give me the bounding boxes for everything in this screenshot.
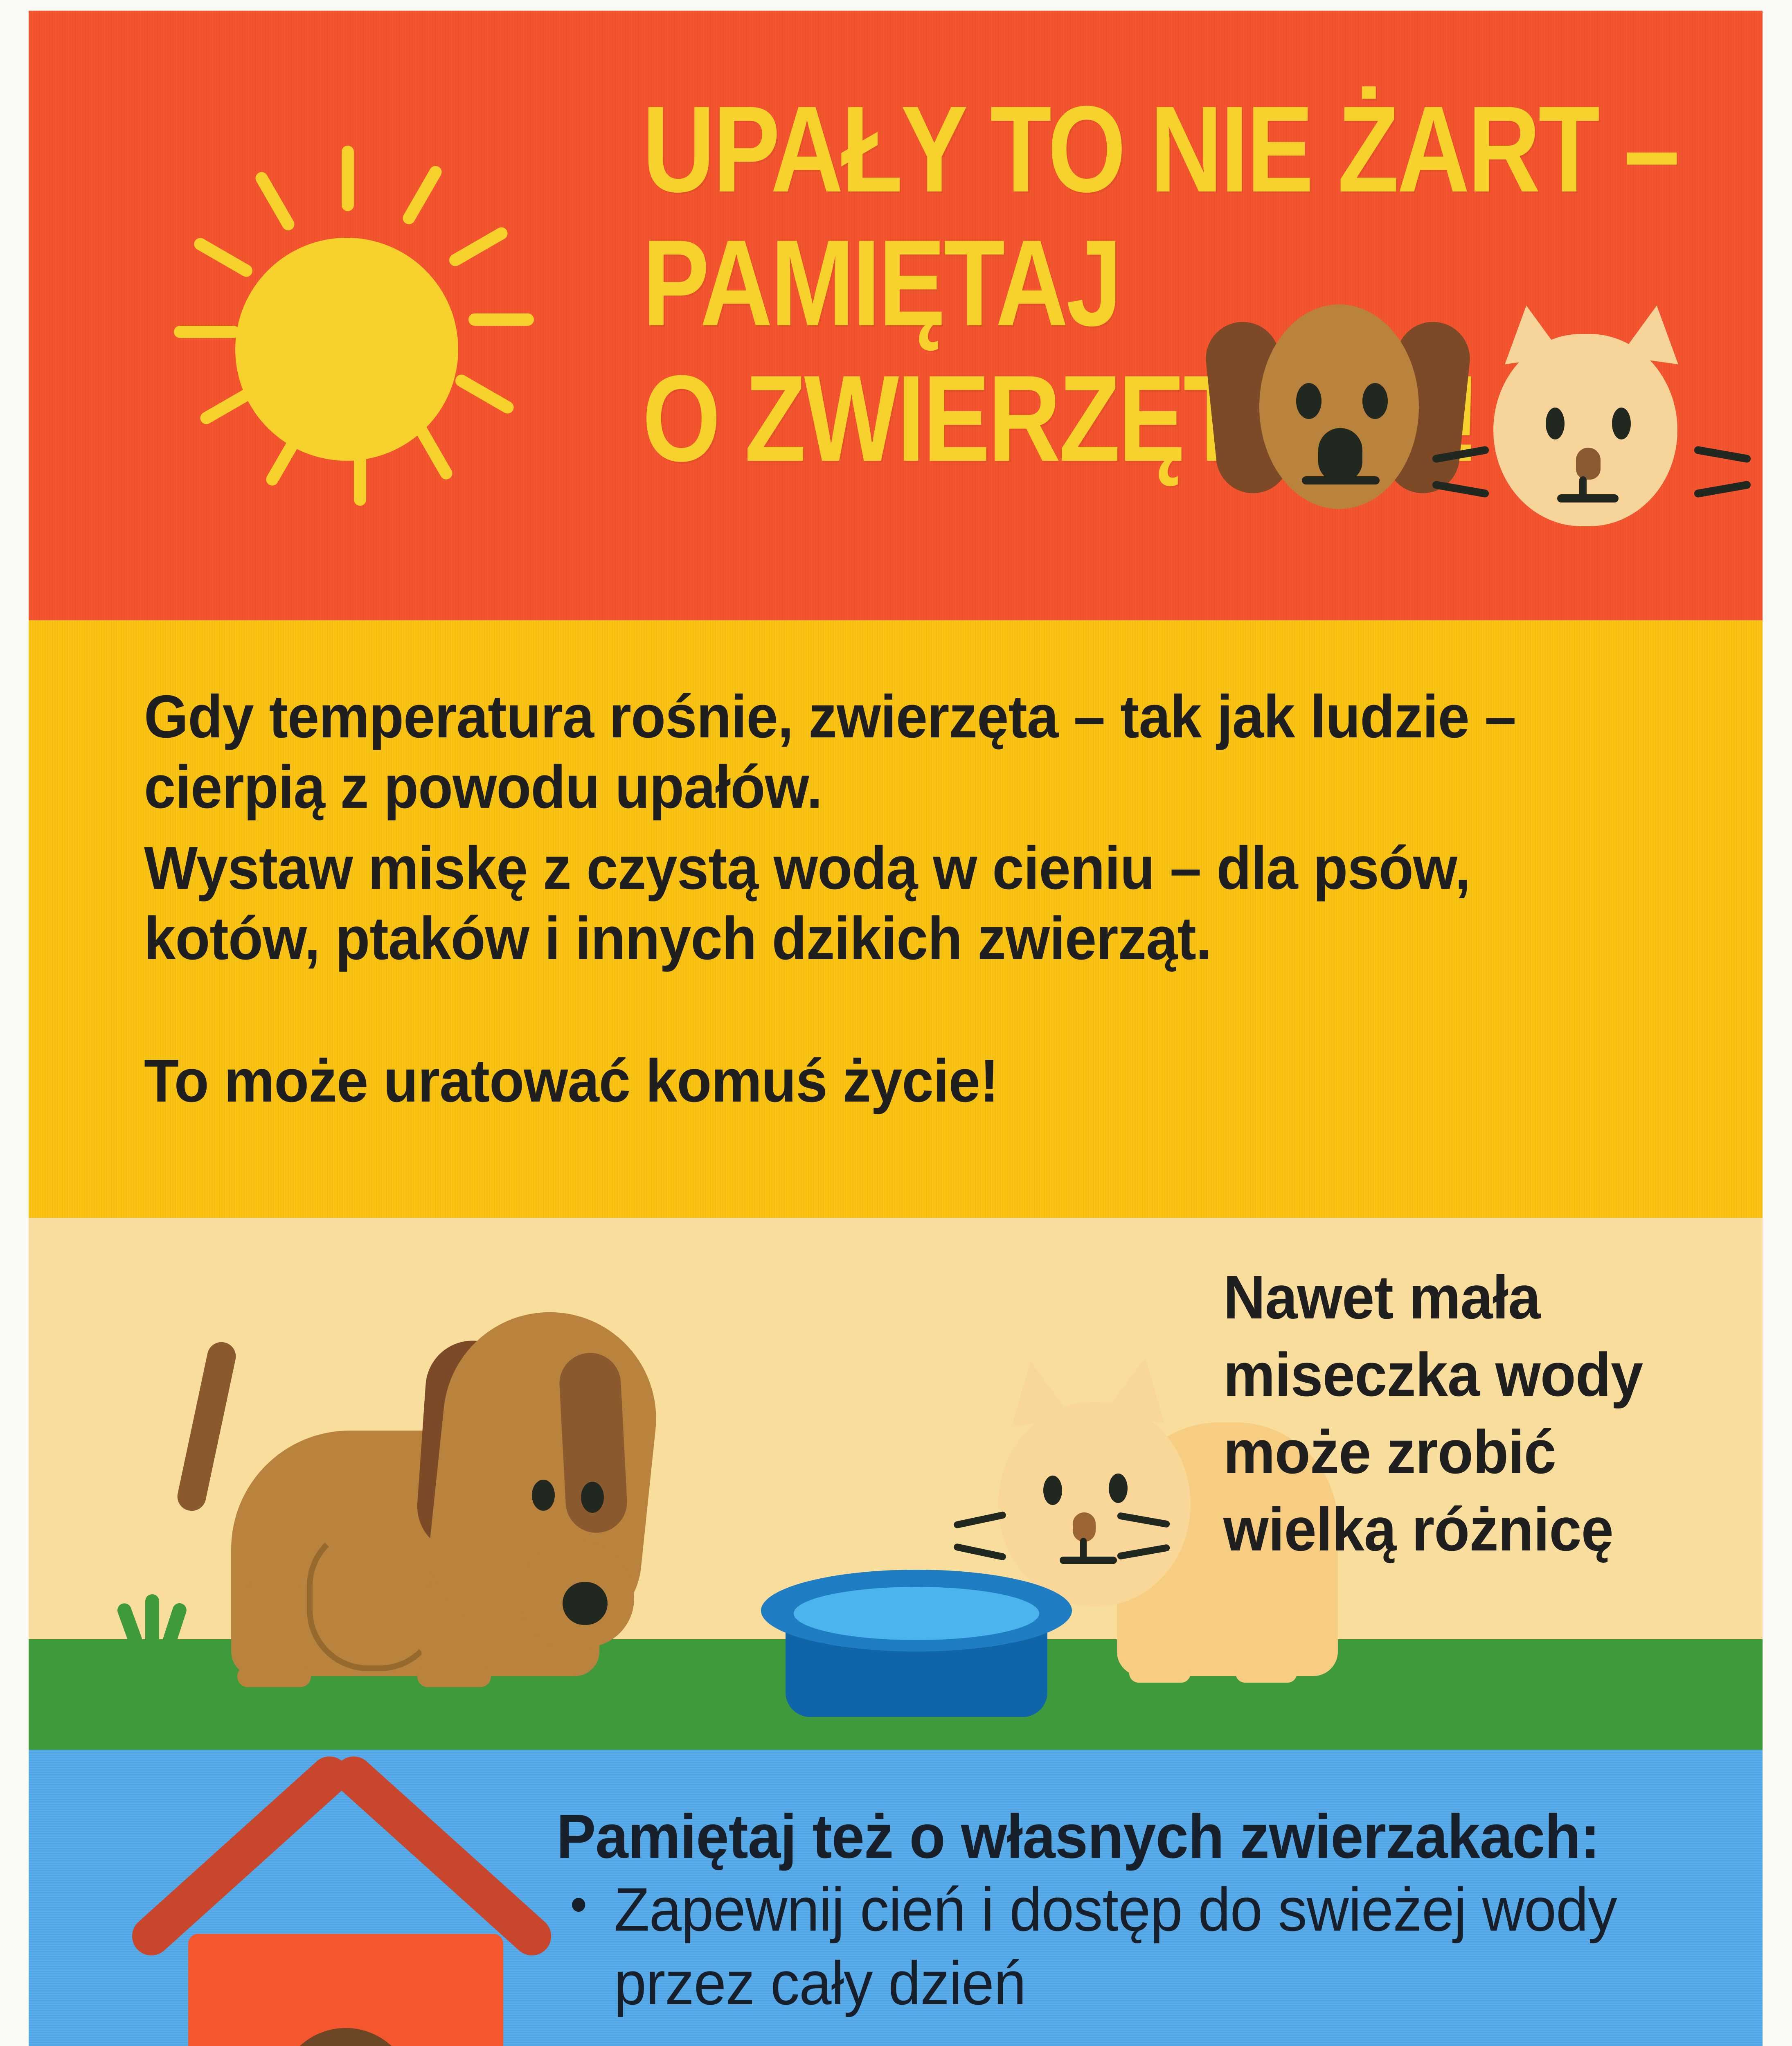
sun-ray xyxy=(468,313,534,326)
sun-ray xyxy=(411,419,455,482)
sun-ray xyxy=(174,326,239,338)
sun-ray xyxy=(192,236,255,279)
sun-ray xyxy=(253,170,297,233)
cat-eye-right xyxy=(1612,408,1631,439)
dog-tail xyxy=(175,1339,239,1513)
cat-face-icon xyxy=(1477,305,1706,534)
sun-ray xyxy=(453,372,516,416)
sun-ray xyxy=(401,164,444,227)
cat-paw xyxy=(1236,1664,1297,1683)
dog-snout xyxy=(1318,428,1362,482)
dog-eye-right xyxy=(581,1482,604,1513)
cat-nose xyxy=(1073,1512,1096,1542)
list-item-label: Nie zostawiaj zwierząt w aucie – nawet n… xyxy=(614,2036,1687,2046)
cat-whisker xyxy=(953,1543,1007,1561)
cat-whisker xyxy=(953,1511,1007,1529)
dog-eye-left xyxy=(532,1480,555,1511)
grass-tuft-icon xyxy=(123,1594,196,1647)
cat-eye-left xyxy=(1043,1476,1062,1505)
dog-eye-right xyxy=(1362,383,1388,419)
sun-icon xyxy=(82,80,614,571)
cat-paw xyxy=(1129,1664,1191,1683)
dog-paw xyxy=(237,1666,311,1687)
poster-root: UPAŁY TO NIE ŻART – PAMIĘTAJ O ZWIERZĘTA… xyxy=(29,11,1763,2046)
dog-mouth xyxy=(1302,476,1380,484)
cat-mouth xyxy=(1060,1557,1117,1564)
list-item: Nie zostawiaj zwierząt w aucie – nawet n… xyxy=(556,2034,1691,2046)
pet-care-list: Zapewnij cień i dostęp do swieżej wody p… xyxy=(556,1872,1751,2046)
doghouse-icon xyxy=(123,1799,561,2046)
cat-eye-left xyxy=(1546,408,1565,439)
bowl-water xyxy=(794,1587,1039,1640)
header-banner: UPAŁY TO NIE ŻART – PAMIĘTAJ O ZWIERZĘTA… xyxy=(29,11,1763,620)
dog-eye-left xyxy=(1296,383,1321,419)
sun-ray xyxy=(342,146,354,211)
yellow-paragraph-2: Wystaw miskę z czystą wodą w cieniu – dl… xyxy=(144,833,1590,973)
water-bowl-icon xyxy=(761,1570,1072,1717)
yellow-paragraph-1: Gdy temperatura rośnie, zwierzęta – tak … xyxy=(144,682,1590,822)
yellow-paragraph-3: To może uratować komuś życie! xyxy=(144,1046,1590,1116)
dog-face-icon xyxy=(1211,297,1465,526)
illustration-section: Nawet mała miseczka wody może zrobić wie… xyxy=(29,1218,1763,1750)
grass-blade xyxy=(161,1601,188,1648)
illustration-caption: Nawet mała miseczka wody może zrobić wie… xyxy=(1223,1259,1713,1568)
advice-section-yellow: Gdy temperatura rośnie, zwierzęta – tak … xyxy=(29,620,1763,1218)
cat-eye-right xyxy=(1109,1474,1128,1503)
cat-mouth xyxy=(1557,494,1619,502)
cat-whisker xyxy=(1693,480,1751,498)
cat-nose xyxy=(1576,448,1601,480)
sun-ray xyxy=(447,225,510,268)
grass-blade xyxy=(145,1594,159,1647)
list-item-label: Zapewnij cień i dostęp do swieżej wody p… xyxy=(614,1875,1617,2017)
blue-section-heading: Pamiętaj też o własnych zwierzakach: xyxy=(556,1801,1684,1872)
headline-line-1: UPAŁY TO NIE ŻART – xyxy=(642,88,1568,210)
dog-paw xyxy=(417,1666,491,1687)
sun-ray xyxy=(354,440,366,506)
bullet-dot-icon xyxy=(572,1898,585,1912)
own-pets-section: Pamiętaj też o własnych zwierzakach: Zap… xyxy=(29,1750,1763,2046)
dog-flank-line xyxy=(307,1525,441,1671)
list-item: Zapewnij cień i dostęp do swieżej wody p… xyxy=(556,1872,1691,2020)
dog-nose xyxy=(563,1582,608,1625)
